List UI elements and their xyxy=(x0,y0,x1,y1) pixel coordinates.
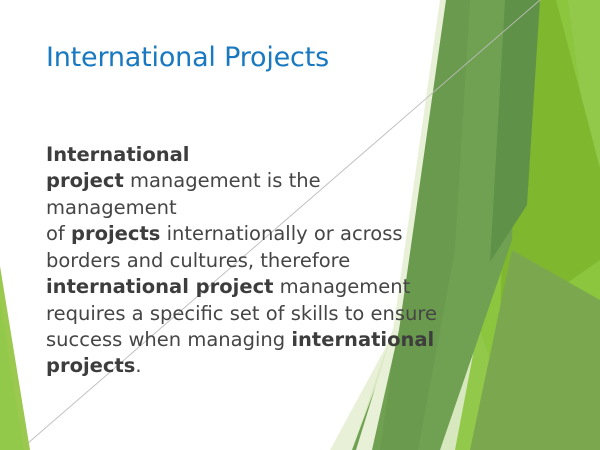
slide-title: International Projects xyxy=(46,42,466,73)
body-run-8: international project xyxy=(46,275,273,298)
bottom-left-green-wedge-inner xyxy=(0,300,24,450)
bottom-left-green-wedge xyxy=(0,266,30,450)
mid-green-column xyxy=(500,0,600,330)
body-run-11: . xyxy=(135,354,141,377)
body-run-0: International xyxy=(46,143,189,166)
deep-green-crossing xyxy=(490,0,540,262)
slide-body-text: Internationalproject management is the m… xyxy=(46,142,438,380)
vivid-green-column xyxy=(470,0,600,450)
body-run-2: project xyxy=(46,169,124,192)
slide-canvas: International Projects Internationalproj… xyxy=(0,0,600,450)
bright-green-right-band xyxy=(455,0,600,450)
body-run-5: of xyxy=(46,222,71,245)
body-run-6: projects xyxy=(71,222,160,245)
olive-lower-wedge xyxy=(470,250,600,450)
